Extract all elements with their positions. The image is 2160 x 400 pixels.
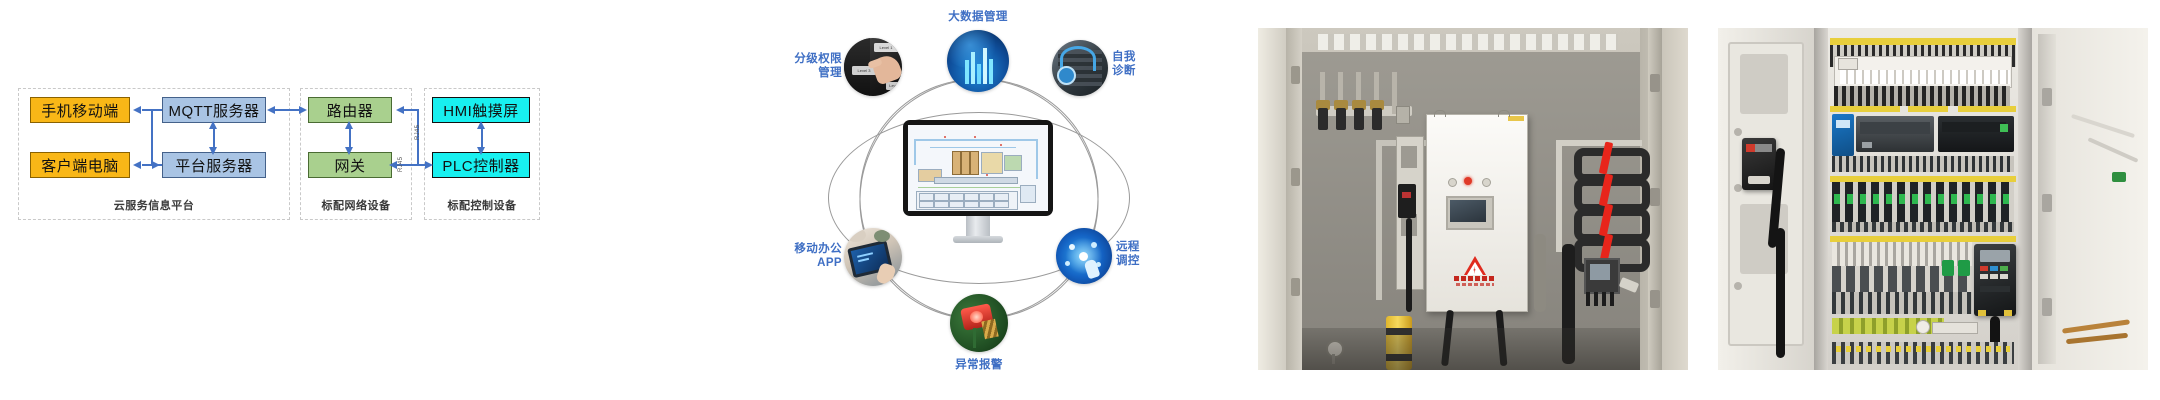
scada-bar <box>934 177 1018 184</box>
arrowhead-mqtt-left <box>267 106 275 114</box>
node-label: PLC控制器 <box>442 155 519 176</box>
bubble-label-alarm: 异常报警 <box>929 358 1029 372</box>
scada-tag <box>964 201 979 208</box>
scada-tag <box>919 193 934 201</box>
scada-pipe <box>914 139 1038 141</box>
bubble-label-access-level: 分级权限 管理 <box>758 52 842 81</box>
arrowhead-hmi-up <box>477 121 485 129</box>
warning-label <box>1454 276 1496 281</box>
node-label: MQTT服务器 <box>169 100 260 121</box>
arrowhead-platform-down <box>209 147 217 155</box>
node-label: 平台服务器 <box>175 155 253 176</box>
node-gateway[interactable]: 网关 <box>308 152 392 178</box>
scada-tag <box>934 193 949 201</box>
bubble-mobile-app[interactable] <box>844 228 902 286</box>
bubble-label-self-diagnosis: 自我 诊断 <box>1112 50 1164 79</box>
node-label: 手机移动端 <box>41 100 119 121</box>
monitor-screen <box>908 125 1048 211</box>
node-hmi-touchscreen[interactable]: HMI触摸屏 <box>432 97 530 123</box>
network-topology-diagram: 云服务信息平台 标配网络设备 标配控制设备 手机移动端 客户端电脑 MQTT服务… <box>0 0 740 400</box>
scada-tag <box>949 201 964 208</box>
node-router[interactable]: 路由器 <box>308 97 392 123</box>
scada-box <box>1020 185 1036 203</box>
scada-pipe <box>918 187 1030 188</box>
level-tag-3: Level 3 <box>853 68 875 73</box>
link-mqtt-router <box>272 109 302 111</box>
node-label: 客户端电脑 <box>41 155 119 176</box>
wire-tag-top: RJ45 <box>415 125 421 140</box>
scada-tag <box>964 193 979 201</box>
arrowhead-mqtt-up <box>209 121 217 129</box>
node-mqtt-server[interactable]: MQTT服务器 <box>162 97 266 123</box>
mobile-app-icon <box>844 228 902 286</box>
scada-tag <box>979 201 994 208</box>
group-label-network: 标配网络设备 <box>301 197 411 213</box>
access-level-icon: Level 1 Level 3 Level <box>844 38 902 96</box>
scada-tank <box>952 151 961 175</box>
arrowhead-router-up <box>345 121 353 129</box>
arrowhead-plc-down <box>477 147 485 155</box>
node-mobile-client[interactable]: 手机移动端 <box>30 97 130 123</box>
arrowhead-router-right <box>299 106 307 114</box>
scada-box <box>981 152 1003 174</box>
self-diagnosis-icon <box>1052 40 1108 96</box>
photo-cabinet-outdoor <box>1258 28 1688 370</box>
bubble-self-diagnosis[interactable] <box>1052 40 1108 96</box>
arrowhead-gateway-down <box>345 147 353 155</box>
scada-tank <box>961 151 970 175</box>
node-label: 路由器 <box>327 100 374 121</box>
scada-tag <box>949 193 964 201</box>
bubble-big-data[interactable] <box>947 30 1009 92</box>
node-plc-controller[interactable]: PLC控制器 <box>432 152 530 178</box>
arrowhead-client <box>133 161 141 169</box>
bubble-label-big-data: 大数据管理 <box>928 10 1028 24</box>
link-router-plc-top <box>404 109 418 111</box>
level-tag-n: Level <box>886 84 902 88</box>
scada-pipe <box>930 147 1016 148</box>
bubble-remote-control[interactable] <box>1056 228 1112 284</box>
scada-tank <box>970 151 979 175</box>
arrowhead-platform <box>152 161 160 169</box>
node-label: HMI触摸屏 <box>443 100 519 121</box>
photo-cabinet-plc <box>1718 28 2148 370</box>
screenshot-canvas: 云服务信息平台 标配网络设备 标配控制设备 手机移动端 客户端电脑 MQTT服务… <box>0 0 2160 400</box>
arrowhead-gateway-in <box>389 161 397 169</box>
bubble-alarm[interactable] <box>950 294 1008 352</box>
bubble-access-level[interactable]: Level 1 Level 3 Level <box>844 38 902 96</box>
scada-tag <box>994 201 1009 208</box>
node-desktop-client[interactable]: 客户端电脑 <box>30 152 130 178</box>
node-platform-server[interactable]: 平台服务器 <box>162 152 266 178</box>
arrowhead-plc-in <box>425 161 433 169</box>
alarm-light-icon <box>950 294 1008 352</box>
wire-tag-bottom: RJ45 <box>398 157 404 172</box>
scada-tag <box>979 193 994 201</box>
bubble-label-remote-control: 远程 调控 <box>1116 240 1168 269</box>
monitor-neck <box>966 216 990 236</box>
scada-tag <box>919 201 934 208</box>
node-label: 网关 <box>334 155 365 176</box>
scada-monitor <box>903 120 1053 248</box>
remote-control-icon <box>1056 228 1112 284</box>
arrowhead-router-in <box>396 106 404 114</box>
scada-box <box>1004 155 1022 171</box>
scada-pipe <box>914 139 916 165</box>
big-data-icon <box>947 30 1009 92</box>
bubble-label-mobile-app: 移动办公 APP <box>764 242 842 271</box>
scada-tag <box>934 201 949 208</box>
group-label-control: 标配控制设备 <box>425 197 539 213</box>
scada-pipe <box>1036 139 1038 179</box>
arrowhead-mobile <box>133 106 141 114</box>
scada-tag <box>994 193 1009 201</box>
capability-infographic: 大数据管理 自我 诊断 远程 调控 <box>740 0 1240 400</box>
level-tag-1: Level 1 <box>875 45 897 50</box>
group-label-cloud: 云服务信息平台 <box>19 197 289 213</box>
link-riser-platform <box>151 109 153 165</box>
monitor-foot <box>953 236 1003 243</box>
